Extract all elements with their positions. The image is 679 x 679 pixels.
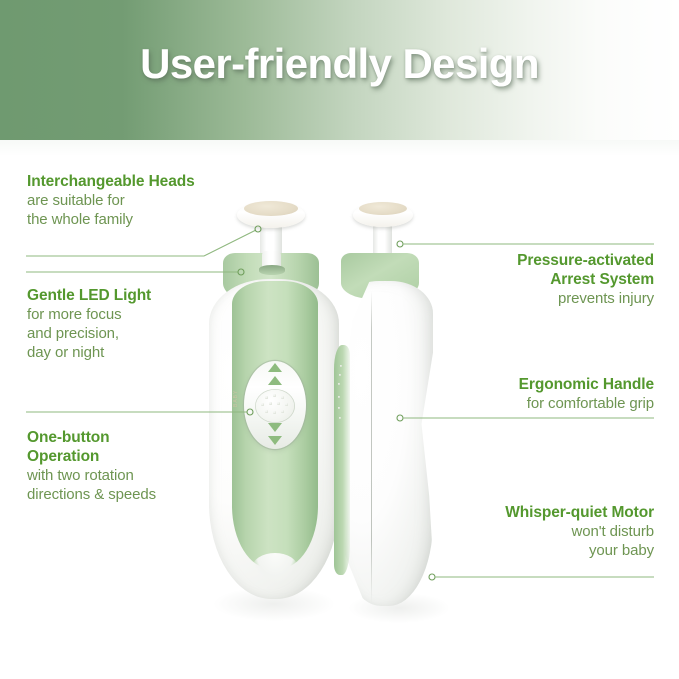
side-button-dimples [335,365,349,425]
side-outer-shell [337,281,433,606]
callout-heading-line-1: Pressure-activated [432,251,654,270]
callout-body-line-1: for comfortable grip [432,394,654,413]
sanding-pad [244,201,298,216]
callout-body-line-1: with two rotation [27,466,242,485]
callout-body-line-1: prevents injury [432,289,654,308]
callout-body-line-2: the whole family [27,210,242,229]
micro-brand-text: BABY [233,373,239,407]
callout-heading: Gentle LED Light [27,286,242,305]
callout-heading: Interchangeable Heads [27,172,242,191]
speed-up-arrow-outer[interactable] [268,363,282,372]
speed-down-arrow-outer[interactable] [268,436,282,445]
callout-one-button-operation: One-button Operation with two rotation d… [27,428,242,504]
callout-heading-line-1: Ergonomic Handle [432,375,654,394]
callout-body-line-2: and precision, [27,324,242,343]
front-panel-bottom-notch [252,553,298,583]
callout-body-line-1: won't disturb [432,522,654,541]
callout-whisper-quiet-motor: Whisper-quiet Motor won't disturb your b… [432,503,654,560]
callout-interchangeable-heads: Interchangeable Heads are suitable for t… [27,172,242,229]
side-seam-line [371,291,372,603]
callout-body-line-2: directions & speeds [27,485,242,504]
page-title: User-friendly Design [0,40,679,88]
callout-body-line-3: day or night [27,343,242,362]
side-sanding-pad [359,202,407,215]
header-fade-edge [0,140,679,156]
callout-gentle-led-light: Gentle LED Light for more focus and prec… [27,286,242,362]
callout-ergonomic-handle: Ergonomic Handle for comfortable grip [432,375,654,413]
callout-body-line-1: for more focus [27,305,242,324]
speed-down-arrow-inner[interactable] [268,423,282,432]
callout-body-line-1: are suitable for [27,191,242,210]
callout-heading-line-1: Whisper-quiet Motor [432,503,654,522]
callout-heading-line-2: Arrest System [432,270,654,289]
button-texture-dimples [255,389,295,423]
speed-up-arrow-inner[interactable] [268,376,282,385]
product-feature-infographic: User-friendly Design BABY [0,0,679,679]
collar-slot [259,265,285,275]
callout-pressure-activated-arrest-system: Pressure-activated Arrest System prevent… [432,251,654,308]
callout-body-line-2: your baby [432,541,654,560]
callout-heading-line-2: Operation [27,447,242,466]
callout-heading-line-1: One-button [27,428,242,447]
